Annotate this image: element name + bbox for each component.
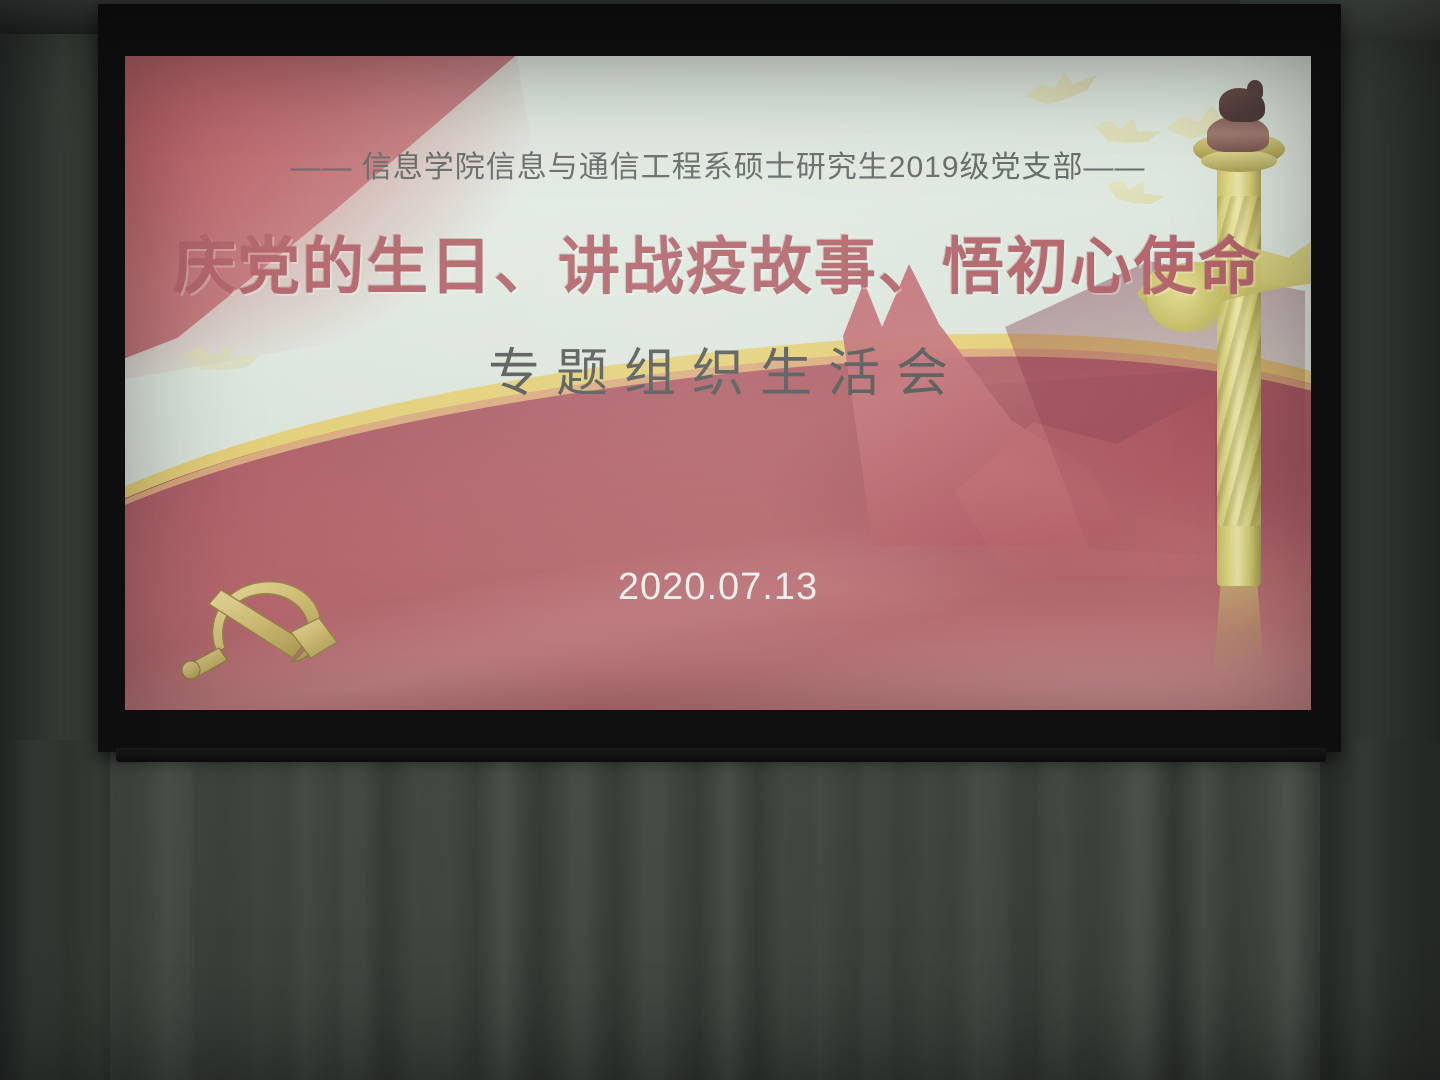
- slide-subtitle: —— 信息学院信息与通信工程系硕士研究生2019级党支部——: [125, 142, 1311, 186]
- curtain-pleats: [0, 740, 1440, 1080]
- projection-screen-frame: —— 信息学院信息与通信工程系硕士研究生2019级党支部—— 庆党的生日、讲战疫…: [98, 4, 1341, 752]
- slide-title: 庆党的生日、讲战疫故事、悟初心使命: [125, 216, 1311, 306]
- slide-text-block: —— 信息学院信息与通信工程系硕士研究生2019级党支部—— 庆党的生日、讲战疫…: [125, 56, 1311, 710]
- presentation-slide: —— 信息学院信息与通信工程系硕士研究生2019级党支部—— 庆党的生日、讲战疫…: [125, 56, 1311, 710]
- slide-heading: 专题组织生活会: [125, 331, 1311, 406]
- slide-date: 2020.07.13: [125, 566, 1311, 609]
- conference-room-scene: —— 信息学院信息与通信工程系硕士研究生2019级党支部—— 庆党的生日、讲战疫…: [0, 0, 1440, 1080]
